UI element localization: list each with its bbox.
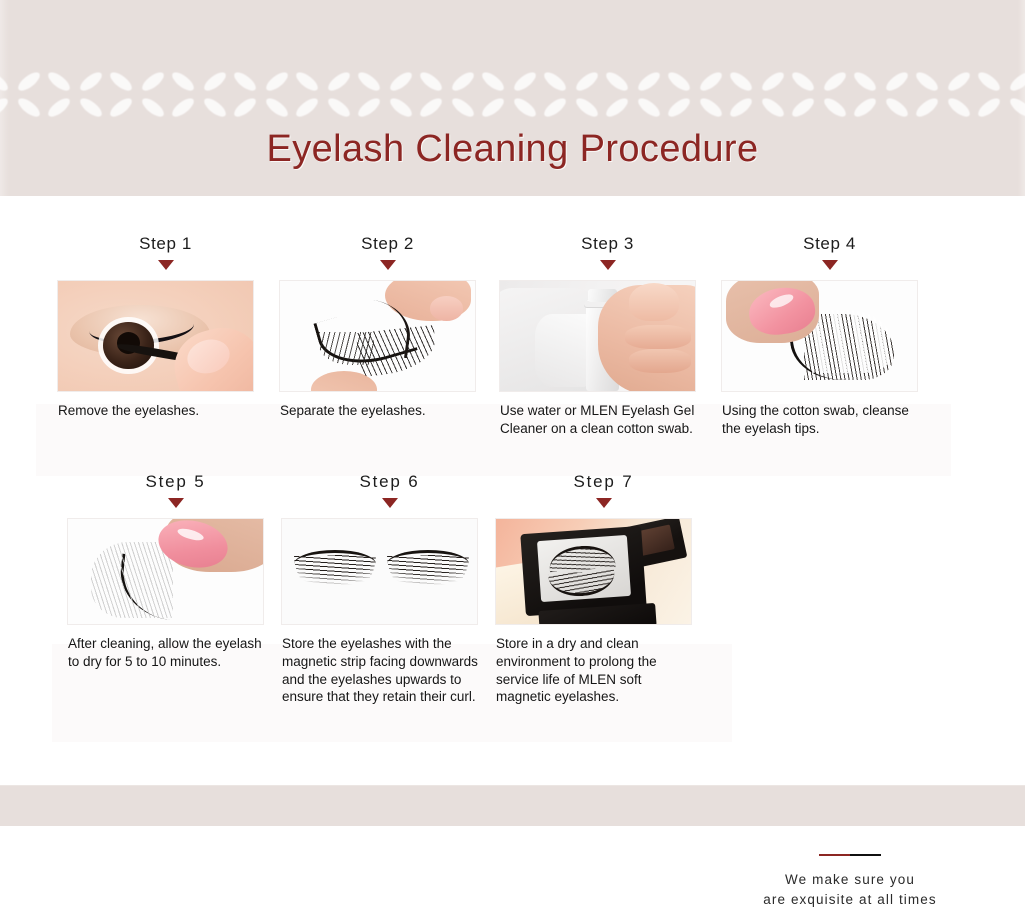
step-caption-1: Remove the eyelashes. (58, 402, 254, 420)
petal-shape (821, 69, 848, 94)
step-card-7[interactable]: Step 7 Store in a dry and clean environm… (496, 472, 711, 706)
step-image-2 (280, 281, 475, 391)
petal-shape (449, 69, 476, 94)
petal-shape (975, 95, 1002, 120)
petal-shape (759, 69, 786, 94)
triangle-down-icon (158, 260, 174, 270)
petal-shape (139, 69, 166, 94)
petal-shape (169, 69, 196, 94)
petal-shape (231, 95, 258, 120)
petal-motif (106, 64, 168, 126)
step-label-3: Step 3 (500, 234, 715, 254)
petal-motif (478, 64, 540, 126)
petal-shape (201, 95, 228, 120)
petal-shape (45, 69, 72, 94)
petal-shape (0, 95, 11, 120)
petal-shape (789, 69, 816, 94)
petal-shape (0, 69, 11, 94)
petal-shape (107, 69, 134, 94)
step-caption-3: Use water or MLEN Eyelash Gel Cleaner on… (500, 402, 696, 438)
petal-shape (139, 95, 166, 120)
petal-motif (726, 64, 788, 126)
petal-motif (0, 64, 44, 126)
petal-motif (168, 64, 230, 126)
petal-shape (883, 95, 910, 120)
triangle-down-icon (168, 498, 184, 508)
petal-shape (201, 69, 228, 94)
petal-shape (293, 95, 320, 120)
step-image-5 (68, 519, 263, 624)
petal-shape (263, 95, 290, 120)
petal-shape (573, 69, 600, 94)
petal-shape (387, 69, 414, 94)
petal-shape (573, 95, 600, 120)
step-image-7 (496, 519, 691, 624)
petal-shape (449, 95, 476, 120)
step-image-3 (500, 281, 695, 391)
petal-shape (417, 69, 444, 94)
step-caption-6: Store the eyelashes with the magnetic st… (282, 635, 478, 706)
petal-shape (913, 69, 940, 94)
step-card-6[interactable]: Step 6 Store the eyelashes with the magn… (282, 472, 497, 706)
step-image-6 (282, 519, 477, 624)
step-card-1[interactable]: Step 1 Remove the eyelashes. (58, 234, 273, 420)
steps-grid: Step 1 Remove the eyelashes. Step 2 Sepa… (0, 196, 1025, 785)
step-card-2[interactable]: Step 2 Separate the eyelashes. (280, 234, 495, 420)
petal-shape (417, 95, 444, 120)
petal-shape (975, 69, 1002, 94)
petal-shape (355, 95, 382, 120)
petal-shape (293, 69, 320, 94)
petal-shape (1007, 95, 1025, 120)
step-label-6: Step 6 (282, 472, 497, 492)
petal-motif (602, 64, 664, 126)
step-caption-4: Using the cotton swab, cleanse the eyela… (722, 402, 918, 438)
petal-shape (77, 95, 104, 120)
petal-shape (355, 69, 382, 94)
petal-shape (77, 69, 104, 94)
petal-shape (759, 95, 786, 120)
petal-shape (541, 69, 568, 94)
petal-shape (635, 95, 662, 120)
petal-shape (697, 95, 724, 120)
petal-shape (511, 69, 538, 94)
step-label-4: Step 4 (722, 234, 937, 254)
petal-shape (727, 95, 754, 120)
petal-shape (479, 95, 506, 120)
petal-shape (883, 69, 910, 94)
page-footer (0, 785, 1025, 826)
step-card-5[interactable]: Step 5 After cleaning, allow the eyelash… (68, 472, 283, 671)
tagline-line-1: We make sure you (745, 870, 955, 890)
petal-shape (479, 69, 506, 94)
petal-shape (851, 69, 878, 94)
petal-motif (44, 64, 106, 126)
petal-shape (697, 69, 724, 94)
petal-motif (850, 64, 912, 126)
petal-shape (387, 95, 414, 120)
brand-tagline: We make sure you are exquisite at all ti… (745, 854, 955, 911)
page-title: Eyelash Cleaning Procedure (0, 128, 1025, 171)
step-image-4 (722, 281, 917, 391)
petal-shape (169, 95, 196, 120)
petal-shape (231, 69, 258, 94)
petal-shape (851, 95, 878, 120)
petal-shape (15, 95, 42, 120)
petal-shape (603, 69, 630, 94)
petal-shape (45, 95, 72, 120)
petal-motif (292, 64, 354, 126)
petal-shape (325, 69, 352, 94)
triangle-down-icon (380, 260, 396, 270)
petal-shape (603, 95, 630, 120)
step-card-4[interactable]: Step 4 Using the cotton swab, cleanse th… (722, 234, 937, 438)
petal-motif (912, 64, 974, 126)
triangle-down-icon (600, 260, 616, 270)
petal-shape (665, 95, 692, 120)
tagline-line-2: are exquisite at all times (745, 890, 955, 910)
triangle-down-icon (596, 498, 612, 508)
petal-motif (788, 64, 850, 126)
triangle-down-icon (822, 260, 838, 270)
step-card-3[interactable]: Step 3 Use water or MLEN Eyelash Gel Cle… (500, 234, 715, 438)
step-label-2: Step 2 (280, 234, 495, 254)
petal-shape (635, 69, 662, 94)
step-label-7: Step 7 (496, 472, 711, 492)
petal-shape (665, 69, 692, 94)
petal-shape (913, 95, 940, 120)
page-header: Eyelash Cleaning Procedure (0, 0, 1025, 196)
petal-shape (945, 95, 972, 120)
petal-motif (416, 64, 478, 126)
petal-motif (974, 64, 1025, 126)
petal-shape (945, 69, 972, 94)
petal-motif (230, 64, 292, 126)
petal-shape (789, 95, 816, 120)
petal-motif (540, 64, 602, 126)
step-caption-2: Separate the eyelashes. (280, 402, 476, 420)
step-caption-7: Store in a dry and clean environment to … (496, 635, 692, 706)
petal-shape (15, 69, 42, 94)
triangle-down-icon (382, 498, 398, 508)
two-tone-divider (819, 854, 881, 856)
petal-shape (263, 69, 290, 94)
petal-motif (354, 64, 416, 126)
petal-shape (1007, 69, 1025, 94)
step-label-5: Step 5 (68, 472, 283, 492)
petal-shape (107, 95, 134, 120)
step-label-1: Step 1 (58, 234, 273, 254)
petal-shape (325, 95, 352, 120)
petal-shape (541, 95, 568, 120)
step-image-1 (58, 281, 253, 391)
petal-shape (821, 95, 848, 120)
petal-shape (511, 95, 538, 120)
step-caption-5: After cleaning, allow the eyelash to dry… (68, 635, 264, 671)
diamond-petal-pattern (0, 64, 1025, 126)
petal-motif (664, 64, 726, 126)
petal-shape (727, 69, 754, 94)
